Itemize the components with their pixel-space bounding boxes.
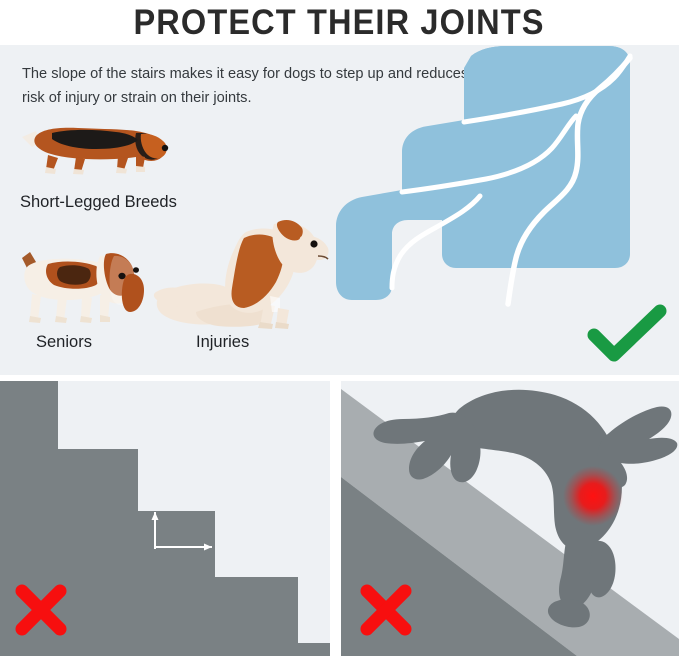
bottom-left-panel: 90° [0,381,330,656]
pain-spot-marker [563,466,623,526]
short-legged-dog-illustration [18,103,178,175]
label-short-legged-breeds: Short-Legged Breeds [20,193,177,212]
label-seniors: Seniors [36,333,92,352]
dog-jumping-ramp-illustration [341,381,679,656]
injured-dog-illustration [152,208,332,330]
label-injuries: Injuries [196,333,249,352]
pet-stairs-illustration [330,45,660,340]
top-panel: The slope of the stairs makes it easy fo… [0,45,679,375]
senior-dog-illustration [14,240,144,328]
bottom-right-panel [341,381,679,656]
check-icon [586,303,668,365]
page-title: PROTECT THEIR JOINTS [134,5,545,40]
infographic-page: PROTECT THEIR JOINTS The slope of the st… [0,0,679,656]
steep-staircase-illustration [0,381,330,656]
header: PROTECT THEIR JOINTS [0,0,679,45]
